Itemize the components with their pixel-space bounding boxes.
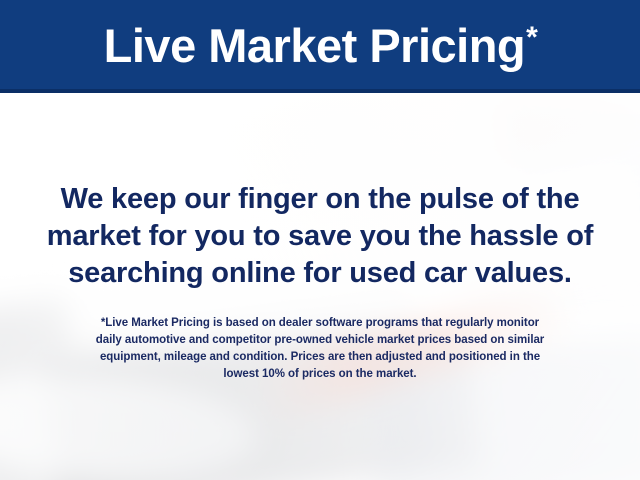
disclaimer-line-3: equipment, mileage and condition. Prices…	[24, 349, 616, 366]
headline: We keep our finger on the pulse of the m…	[20, 181, 620, 292]
content-area: We keep our finger on the pulse of the m…	[0, 93, 640, 480]
header-banner: Live Market Pricing*	[0, 0, 640, 89]
headline-line-2: market for you to save you the hassle of	[20, 218, 620, 255]
header-divider	[0, 89, 640, 93]
disclaimer-line-4: lowest 10% of prices on the market.	[24, 366, 616, 383]
page-title-text: Live Market Pricing	[104, 19, 526, 72]
disclaimer-line-1: *Live Market Pricing is based on dealer …	[24, 315, 616, 332]
page-title: Live Market Pricing*	[104, 22, 537, 69]
headline-line-3: searching online for used car values.	[20, 255, 620, 292]
disclaimer-text: *Live Market Pricing is based on dealer …	[24, 315, 616, 383]
page-title-asterisk: *	[526, 21, 537, 54]
live-market-pricing-card: Live Market Pricing* We keep our finger …	[0, 0, 640, 480]
disclaimer-line-2: daily automotive and competitor pre-owne…	[24, 332, 616, 349]
headline-line-1: We keep our finger on the pulse of the	[20, 181, 620, 218]
